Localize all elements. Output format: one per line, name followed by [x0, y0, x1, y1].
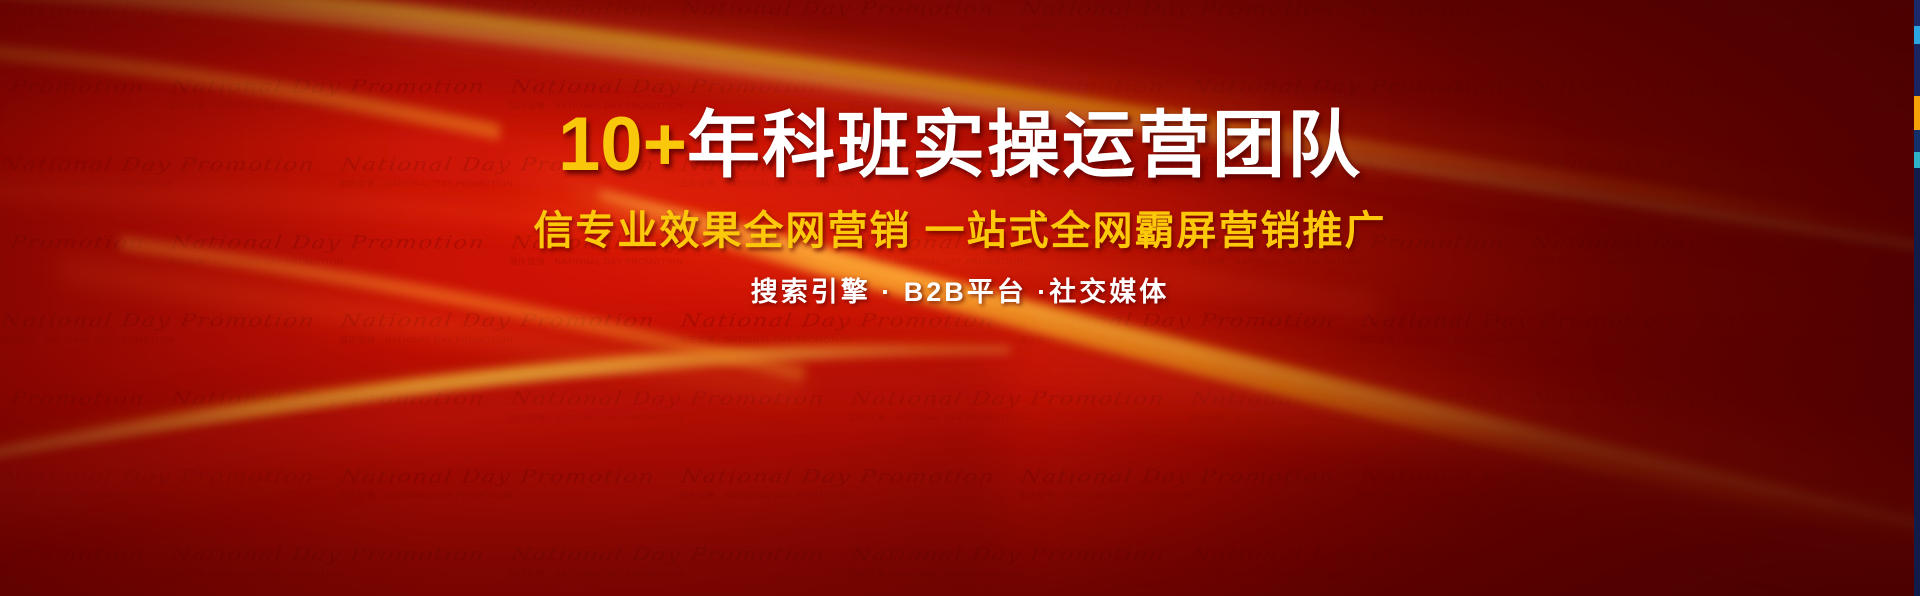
watermark-subtext: 国庆促销 · NATIONAL DAY PROMOTION — [1699, 492, 1920, 500]
watermark-text: National Day Promotion国庆促销 · NATIONAL DA… — [0, 468, 316, 498]
watermark-subtext: 国庆促销 · NATIONAL DAY PROMOTION — [0, 570, 143, 578]
watermark-text: National Day Promotion国庆促销 · NATIONAL DA… — [0, 546, 146, 576]
sliver-segment — [1914, 44, 1920, 96]
headline-text: 年科班实操运营团队 — [687, 105, 1362, 186]
watermark-subtext: 国庆促销 · NATIONAL DAY PROMOTION — [849, 414, 1164, 422]
watermark-text: National Day Promotion国庆促销 · NATIONAL DA… — [848, 546, 1166, 576]
watermark-subtext: 国庆促销 · NATIONAL DAY PROMOTION — [339, 336, 654, 344]
watermark-subtext: 国庆促销 · NATIONAL DAY PROMOTION — [1189, 414, 1504, 422]
watermark-subtext: 国庆促销 · NATIONAL DAY PROMOTION — [1699, 336, 1920, 344]
watermark-subtext: 国庆促销 · NATIONAL DAY PROMOTION — [0, 336, 313, 344]
watermark-subtext: 国庆促销 · NATIONAL DAY PROMOTION — [509, 570, 824, 578]
watermark-text: National Day Promotion国庆促销 · NATIONAL DA… — [338, 468, 656, 498]
watermark-subtext: 国庆促销 · NATIONAL DAY PROMOTION — [1019, 336, 1334, 344]
watermark-subtext: 国庆促销 · NATIONAL DAY PROMOTION — [1189, 570, 1504, 578]
watermark-text: National Day Promotion国庆促销 · NATIONAL DA… — [1018, 468, 1336, 498]
watermark-text: National Day Promotion国庆促销 · NATIONAL DA… — [0, 390, 146, 420]
promotional-banner: National Day Promotion国庆促销 · NATIONAL DA… — [0, 0, 1920, 596]
watermark-text: National Day Promotion国庆促销 · NATIONAL DA… — [508, 390, 826, 420]
watermark-text: National Day Promotion国庆促销 · NATIONAL DA… — [1528, 390, 1846, 420]
watermark-subtext: 国庆促销 · NATIONAL DAY PROMOTION — [1529, 414, 1844, 422]
watermark-subtext: 国庆促销 · NATIONAL DAY PROMOTION — [1529, 570, 1844, 578]
watermark-subtext: 国庆促销 · NATIONAL DAY PROMOTION — [169, 570, 484, 578]
watermark-text: National Day Promotion国庆促销 · NATIONAL DA… — [1358, 312, 1676, 342]
watermark-subtext: 国庆促销 · NATIONAL DAY PROMOTION — [679, 336, 994, 344]
banner-tagline: 搜索引擎 · B2B平台 ·社交媒体 — [0, 276, 1920, 308]
watermark-text: National Day Promotion国庆促销 · NATIONAL DA… — [168, 546, 486, 576]
watermark-subtext: 国庆促销 · NATIONAL DAY PROMOTION — [0, 492, 313, 500]
watermark-text: National Day Promotion国庆促销 · NATIONAL DA… — [1358, 468, 1676, 498]
watermark-subtext: 国庆促销 · NATIONAL DAY PROMOTION — [849, 570, 1164, 578]
watermark-subtext: 国庆促销 · NATIONAL DAY PROMOTION — [0, 414, 143, 422]
watermark-text: National Day Promotion国庆促销 · NATIONAL DA… — [1188, 546, 1506, 576]
watermark-subtext: 国庆促销 · NATIONAL DAY PROMOTION — [1359, 492, 1674, 500]
watermark-text: National Day Promotion国庆促销 · NATIONAL DA… — [678, 312, 996, 342]
watermark-subtext: 国庆促销 · NATIONAL DAY PROMOTION — [679, 492, 994, 500]
sliver-segment — [1914, 96, 1920, 130]
watermark-text: National Day Promotion国庆促销 · NATIONAL DA… — [1018, 312, 1336, 342]
banner-subline: 信专业效果全网营销 一站式全网霸屏营销推广 — [0, 209, 1920, 254]
watermark-subtext: 国庆促销 · NATIONAL DAY PROMOTION — [1359, 336, 1674, 344]
watermark-text: National Day Promotion国庆促销 · NATIONAL DA… — [0, 312, 316, 342]
sliver-segment — [1914, 26, 1920, 44]
watermark-text: National Day Promotion国庆促销 · NATIONAL DA… — [1698, 312, 1920, 342]
watermark-subtext: 国庆促销 · NATIONAL DAY PROMOTION — [169, 414, 484, 422]
adjacent-widget-sliver[interactable] — [1914, 0, 1920, 596]
watermark-text: National Day Promotion国庆促销 · NATIONAL DA… — [508, 546, 826, 576]
watermark-text: National Day Promotion国庆促销 · NATIONAL DA… — [848, 390, 1166, 420]
watermark-text: National Day Promotion国庆促销 · NATIONAL DA… — [338, 312, 656, 342]
sliver-segment — [1914, 152, 1920, 168]
sliver-segment — [1914, 130, 1920, 152]
watermark-subtext: 国庆促销 · NATIONAL DAY PROMOTION — [1869, 414, 1920, 422]
watermark-subtext: 国庆促销 · NATIONAL DAY PROMOTION — [339, 492, 654, 500]
watermark-text: National Day Promotion国庆促销 · NATIONAL DA… — [1698, 468, 1920, 498]
headline-number: 10+ — [558, 102, 687, 187]
banner-content: 10+年科班实操运营团队 信专业效果全网营销 一站式全网霸屏营销推广 搜索引擎 … — [0, 0, 1920, 308]
watermark-text: National Day Promotion国庆促销 · NATIONAL DA… — [1188, 390, 1506, 420]
watermark-text: National Day Promotion国庆促销 · NATIONAL DA… — [678, 468, 996, 498]
watermark-text: National Day Promotion国庆促销 · NATIONAL DA… — [1528, 546, 1846, 576]
sliver-segment — [1914, 168, 1920, 596]
watermark-text: National Day Promotion国庆促销 · NATIONAL DA… — [168, 390, 486, 420]
watermark-text: National Day Promotion国庆促销 · NATIONAL DA… — [1868, 546, 1920, 576]
watermark-subtext: 国庆促销 · NATIONAL DAY PROMOTION — [509, 414, 824, 422]
banner-headline: 10+年科班实操运营团队 — [0, 105, 1920, 184]
sliver-segment — [1914, 0, 1920, 26]
watermark-subtext: 国庆促销 · NATIONAL DAY PROMOTION — [1869, 570, 1920, 578]
watermark-text: National Day Promotion国庆促销 · NATIONAL DA… — [1868, 390, 1920, 420]
watermark-subtext: 国庆促销 · NATIONAL DAY PROMOTION — [1019, 492, 1334, 500]
